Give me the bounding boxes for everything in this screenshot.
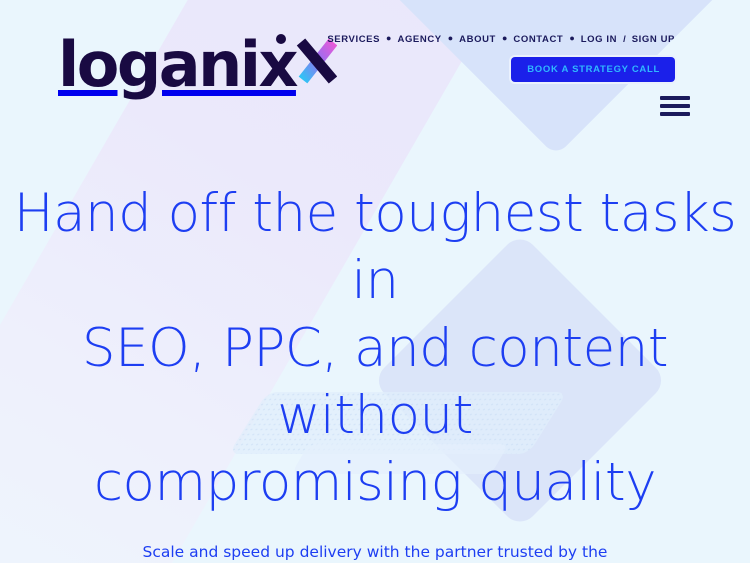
logo-link[interactable]: loganix bbox=[58, 34, 337, 96]
hero-headline: Hand off the toughest tasks in SEO, PPC,… bbox=[0, 180, 750, 516]
page-root: loganix SERVICES ● bbox=[0, 0, 750, 563]
logo-dot-icon bbox=[276, 34, 286, 44]
nav-separator-icon: ● bbox=[448, 34, 453, 43]
hamburger-bar bbox=[660, 112, 690, 116]
nav-separator-icon: ● bbox=[386, 34, 391, 43]
hamburger-menu-icon[interactable] bbox=[660, 96, 690, 116]
nav-separator-icon: ● bbox=[569, 34, 574, 43]
hamburger-bar bbox=[660, 96, 690, 100]
nav-item-log-in[interactable]: LOG IN bbox=[581, 34, 617, 45]
primary-nav: SERVICES ● AGENCY ● ABOUT ● CONTACT ● LO… bbox=[327, 34, 675, 45]
hero-section: Hand off the toughest tasks in SEO, PPC,… bbox=[0, 180, 750, 563]
hamburger-bar bbox=[660, 104, 690, 108]
logo-wordmark: loganix bbox=[58, 34, 296, 96]
nav-separator-icon: ● bbox=[502, 34, 507, 43]
book-strategy-call-button[interactable]: BOOK A STRATEGY CALL bbox=[511, 57, 675, 82]
nav-item-about[interactable]: ABOUT bbox=[459, 34, 496, 45]
nav-item-agency[interactable]: AGENCY bbox=[397, 34, 441, 45]
nav-item-services[interactable]: SERVICES bbox=[327, 34, 380, 45]
nav-slash-divider: / bbox=[623, 34, 626, 45]
nav-item-contact[interactable]: CONTACT bbox=[513, 34, 563, 45]
nav-item-sign-up[interactable]: SIGN UP bbox=[632, 34, 675, 45]
site-header: loganix SERVICES ● bbox=[0, 0, 750, 145]
hero-subheadline: Scale and speed up delivery with the par… bbox=[115, 540, 635, 563]
